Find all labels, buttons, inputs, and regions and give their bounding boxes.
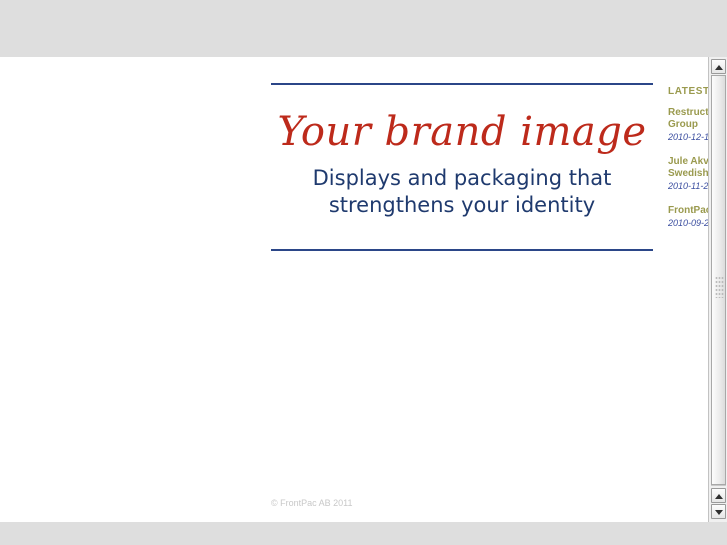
scroll-down-button[interactable] xyxy=(711,504,726,519)
hero-text-block: Your brand image Displays and packaging … xyxy=(271,85,653,249)
triangle-down-icon xyxy=(715,510,723,515)
scroll-up-button[interactable] xyxy=(711,59,726,74)
hero-rule-bottom xyxy=(271,249,653,251)
scrollbar-thumb[interactable] xyxy=(711,75,726,485)
triangle-up-icon xyxy=(715,494,723,499)
footer-copyright: © FrontPac AB 2011 xyxy=(271,498,353,508)
hero-subtitle-line-1: Displays and packaging that xyxy=(271,165,653,192)
triangle-up-icon xyxy=(715,65,723,70)
scrollbar-grip-icon xyxy=(715,276,724,298)
page-content: Your brand image Displays and packaging … xyxy=(0,57,727,522)
browser-chrome-top xyxy=(0,0,727,57)
hero-subtitle-line-2: strengthens your identity xyxy=(271,192,653,219)
hero-banner: Your brand image Displays and packaging … xyxy=(271,83,653,251)
browser-window: Your brand image Displays and packaging … xyxy=(0,0,727,545)
scroll-up-button-secondary[interactable] xyxy=(711,488,726,503)
hero-subtitle: Displays and packaging that strengthens … xyxy=(271,155,653,249)
vertical-scrollbar[interactable] xyxy=(708,57,727,522)
browser-chrome-bottom xyxy=(0,522,727,545)
hero-headline: Your brand image xyxy=(271,85,653,155)
